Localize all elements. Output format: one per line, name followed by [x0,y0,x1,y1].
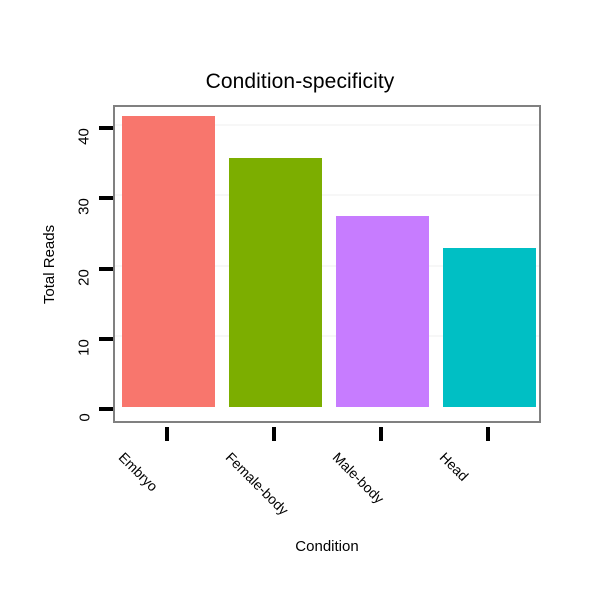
y-axis: 010203040 [0,105,113,423]
x-tick-label: Male-body [329,449,387,507]
x-tick-label: Head [436,449,471,484]
bar-head[interactable] [443,248,536,407]
x-tick-label: Female-body [222,449,291,518]
x-axis-title: Condition [113,538,541,555]
bar-male-body[interactable] [336,216,429,407]
x-tick-mark [165,427,169,441]
y-tick-label: 10 [76,339,93,356]
x-tick-mark [379,427,383,441]
x-axis: EmbryoFemale-bodyMale-bodyHead [113,423,541,543]
y-tick-mark [99,267,113,271]
bar-female-body[interactable] [229,158,322,407]
y-tick-mark [99,126,113,130]
chart-title: Condition-specificity [0,70,600,94]
bars-layer [115,107,539,421]
x-tick-mark [486,427,490,441]
y-tick-mark [99,337,113,341]
plot-panel [113,105,541,423]
x-tick-label: Embryo [115,449,160,494]
x-tick-mark [272,427,276,441]
y-tick-label: 0 [76,413,93,421]
y-tick-mark [99,407,113,411]
plot-area [115,107,539,421]
y-tick-label: 40 [76,128,93,145]
y-tick-label: 30 [76,198,93,215]
bar-embryo[interactable] [122,116,215,407]
bar-chart: Condition-specificity Total Reads 010203… [0,0,600,600]
y-tick-label: 20 [76,269,93,286]
y-tick-mark [99,196,113,200]
